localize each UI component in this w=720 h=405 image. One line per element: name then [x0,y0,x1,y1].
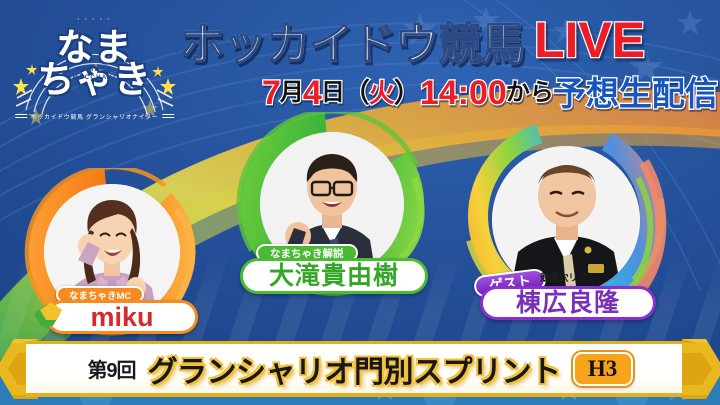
date-weekday-paren-close: ） [394,80,421,107]
cast-name-center: 大滝貴由樹 [269,264,399,289]
cast-card-right[interactable]: ゲスト 競馬穴リスト 棟広良隆 [452,122,688,322]
logo-kana-text: なま ちゃき [38,31,152,96]
logo-subtitle-row: ホッカイドウ競馬 グランシャリオナイター [15,112,174,121]
logo-bars-left-icon [15,114,27,120]
race-edition: 第9回 [87,354,135,383]
race-banner-body: 第9回 グランシャリオ門別スプリント H3 [26,341,694,397]
cast-card-left[interactable]: なまちゃきMC miku [16,168,212,346]
headline-live-label: LIVE [534,11,645,69]
logo-romaji: NAMARA MACCHAKI [73,67,117,82]
race-title-banner: 第9回 グランシャリオ門別スプリント H3 [0,341,720,397]
race-grade-badge: H3 [573,352,633,386]
logo-subtitle-text: ホッカイドウ競馬 グランシャリオナイター [31,112,158,121]
logo-top-dots: ・・・・・ [76,16,114,23]
cast-name-left: miku [90,304,153,331]
cast-name-plate-left: miku [46,300,198,334]
date-weekday: 火 [369,80,395,106]
race-name: グランシャリオ門別スプリント [148,347,561,391]
cast-card-center[interactable]: なまちゃき解説 大滝貴由樹 [228,112,440,302]
headline-japanese-title: ホッカイドウ競馬 [180,8,524,72]
cast-sub-label-right: 競馬穴リスト [540,274,597,284]
date-day-kanji: 日 [321,81,345,105]
date-time: 14:00 [420,76,507,110]
date-month-number: 7 [262,76,281,110]
logo-romaji-line-1: NAMARA [73,67,117,75]
logo-bars-right-icon [162,114,174,120]
banner-chevron-right-icon [682,339,720,399]
main-headline: ホッカイドウ競馬 LIVE [180,12,710,68]
cast-name-right: 棟広良隆 [516,291,620,316]
broadcast-datetime-line: 7 月 4 日 （ 火 ） 14:00 から 予想生配信 [262,74,718,112]
namara-macchaki-logo: ・・・・・ なま ちゃき NAMARA MACCHAKI ホッカイドウ競馬 グラ… [12,6,177,122]
date-from-particle: から [506,81,554,105]
broadcast-promo-graphic: ・・・・・ なま ちゃき NAMARA MACCHAKI ホッカイドウ競馬 グラ… [0,0,720,405]
logo-romaji-line-2: MACCHAKI [73,75,117,83]
date-tagline: 予想生配信 [553,77,718,110]
cast-name-plate-right: 棟広良隆 [480,286,656,320]
date-month-kanji: 月 [280,81,304,105]
cast-name-plate-center: 大滝貴由樹 [240,258,428,294]
date-weekday-paren-open: （ [343,80,370,107]
date-day-number: 4 [303,76,322,110]
